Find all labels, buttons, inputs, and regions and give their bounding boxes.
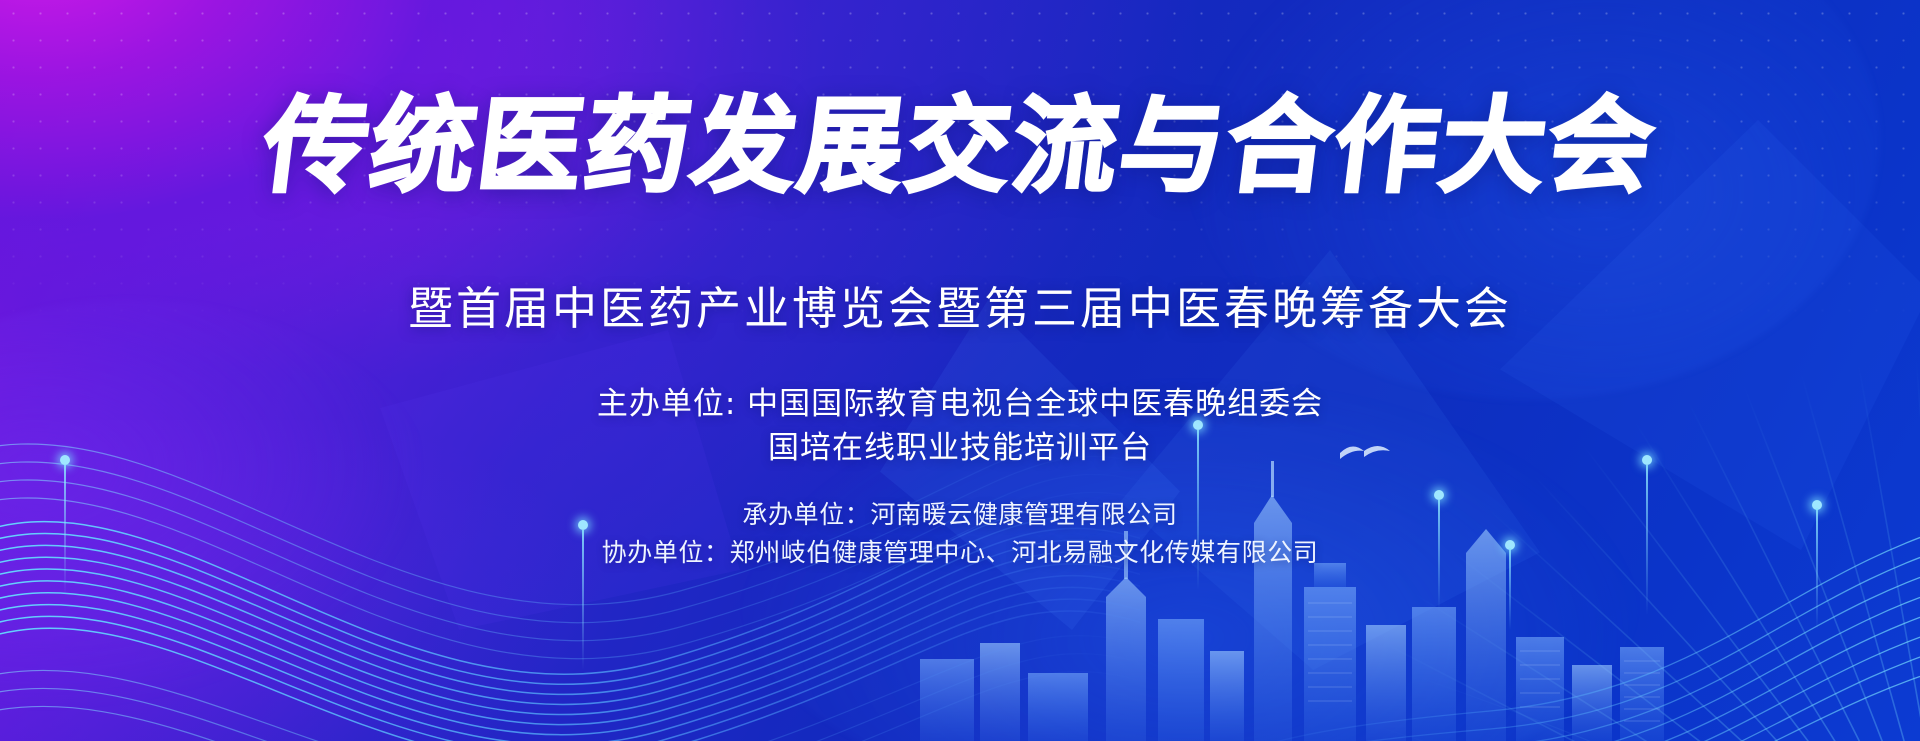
organizer-line-secondary: 国培在线职业技能培训平台 bbox=[0, 426, 1920, 470]
host-unit-line: 承办单位：河南暖云健康管理有限公司 bbox=[0, 496, 1920, 534]
banner-content: 传统医药发展交流与合作大会 暨首届中医药产业博览会暨第三届中医春晚筹备大会 主办… bbox=[0, 0, 1920, 741]
banner-subtitle: 暨首届中医药产业博览会暨第三届中医春晚筹备大会 bbox=[0, 272, 1920, 337]
organizer-line-primary: 主办单位: 中国国际教育电视台全球中医春晚组委会 bbox=[0, 382, 1920, 426]
organizer-block: 主办单位: 中国国际教育电视台全球中医春晚组委会 国培在线职业技能培训平台 bbox=[0, 382, 1920, 470]
banner-title: 传统医药发展交流与合作大会 bbox=[0, 92, 1920, 201]
co-organizer-unit-line: 协办单位：郑州岐伯健康管理中心、河北易融文化传媒有限公司 bbox=[0, 534, 1920, 572]
supporter-block: 承办单位：河南暖云健康管理有限公司 协办单位：郑州岐伯健康管理中心、河北易融文化… bbox=[0, 496, 1920, 572]
conference-banner: 传统医药发展交流与合作大会 暨首届中医药产业博览会暨第三届中医春晚筹备大会 主办… bbox=[0, 0, 1920, 741]
